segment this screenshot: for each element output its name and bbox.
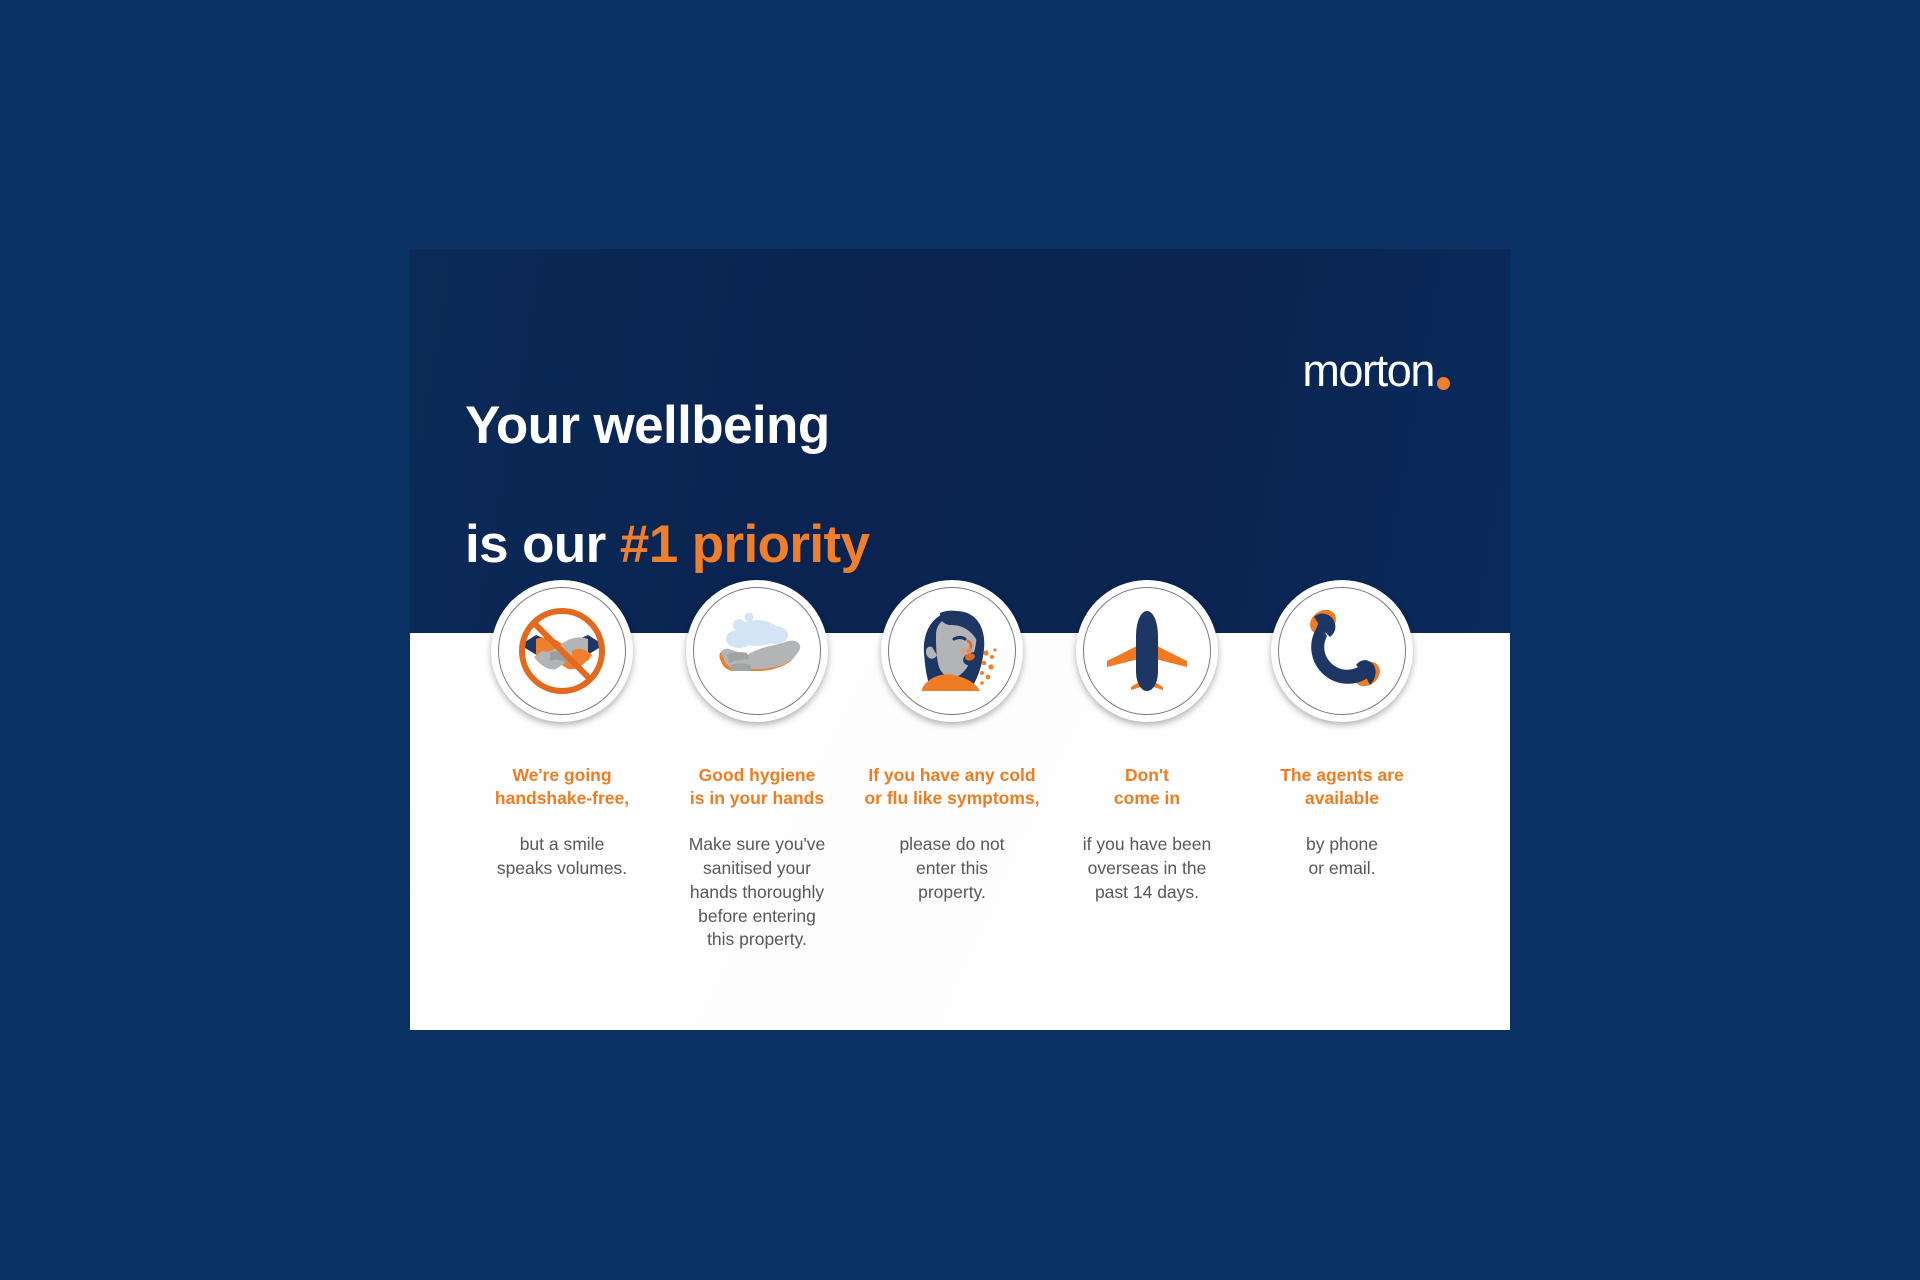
- wellbeing-poster: Your wellbeing is our #1 priority morton: [410, 249, 1510, 1030]
- advice-description: please do not enter this property.: [899, 833, 1004, 904]
- hand-washing-icon: [686, 580, 828, 722]
- telephone-handset-icon: [1271, 580, 1413, 722]
- advice-title: The agents are available: [1280, 764, 1404, 810]
- advice-title: Don't come in: [1114, 764, 1180, 810]
- advice-column-symptoms: If you have any cold or flu like symptom…: [853, 580, 1051, 905]
- advice-title: We're going handshake-free,: [495, 764, 629, 810]
- advice-column-hygiene: Good hygiene is in your hands Make sure …: [658, 580, 856, 952]
- advice-column-travel: Don't come in if you have been overseas …: [1048, 580, 1246, 905]
- advice-title: Good hygiene is in your hands: [690, 764, 824, 810]
- advice-description: if you have been overseas in the past 14…: [1083, 833, 1211, 904]
- advice-description: but a smile speaks volumes.: [497, 833, 627, 881]
- advice-column-contact: The agents are available by phone or ema…: [1243, 580, 1441, 881]
- poster-canvas: Your wellbeing is our #1 priority morton: [0, 0, 1920, 1280]
- advice-columns: We're going handshake-free, but a smile …: [410, 249, 1510, 1030]
- advice-description: by phone or email.: [1306, 833, 1378, 881]
- advice-description: Make sure you've sanitised your hands th…: [689, 833, 826, 952]
- airplane-icon: [1076, 580, 1218, 722]
- sneezing-person-icon: [881, 580, 1023, 722]
- no-handshake-icon: [491, 580, 633, 722]
- advice-column-handshake: We're going handshake-free, but a smile …: [463, 580, 661, 881]
- advice-title: If you have any cold or flu like symptom…: [864, 764, 1039, 810]
